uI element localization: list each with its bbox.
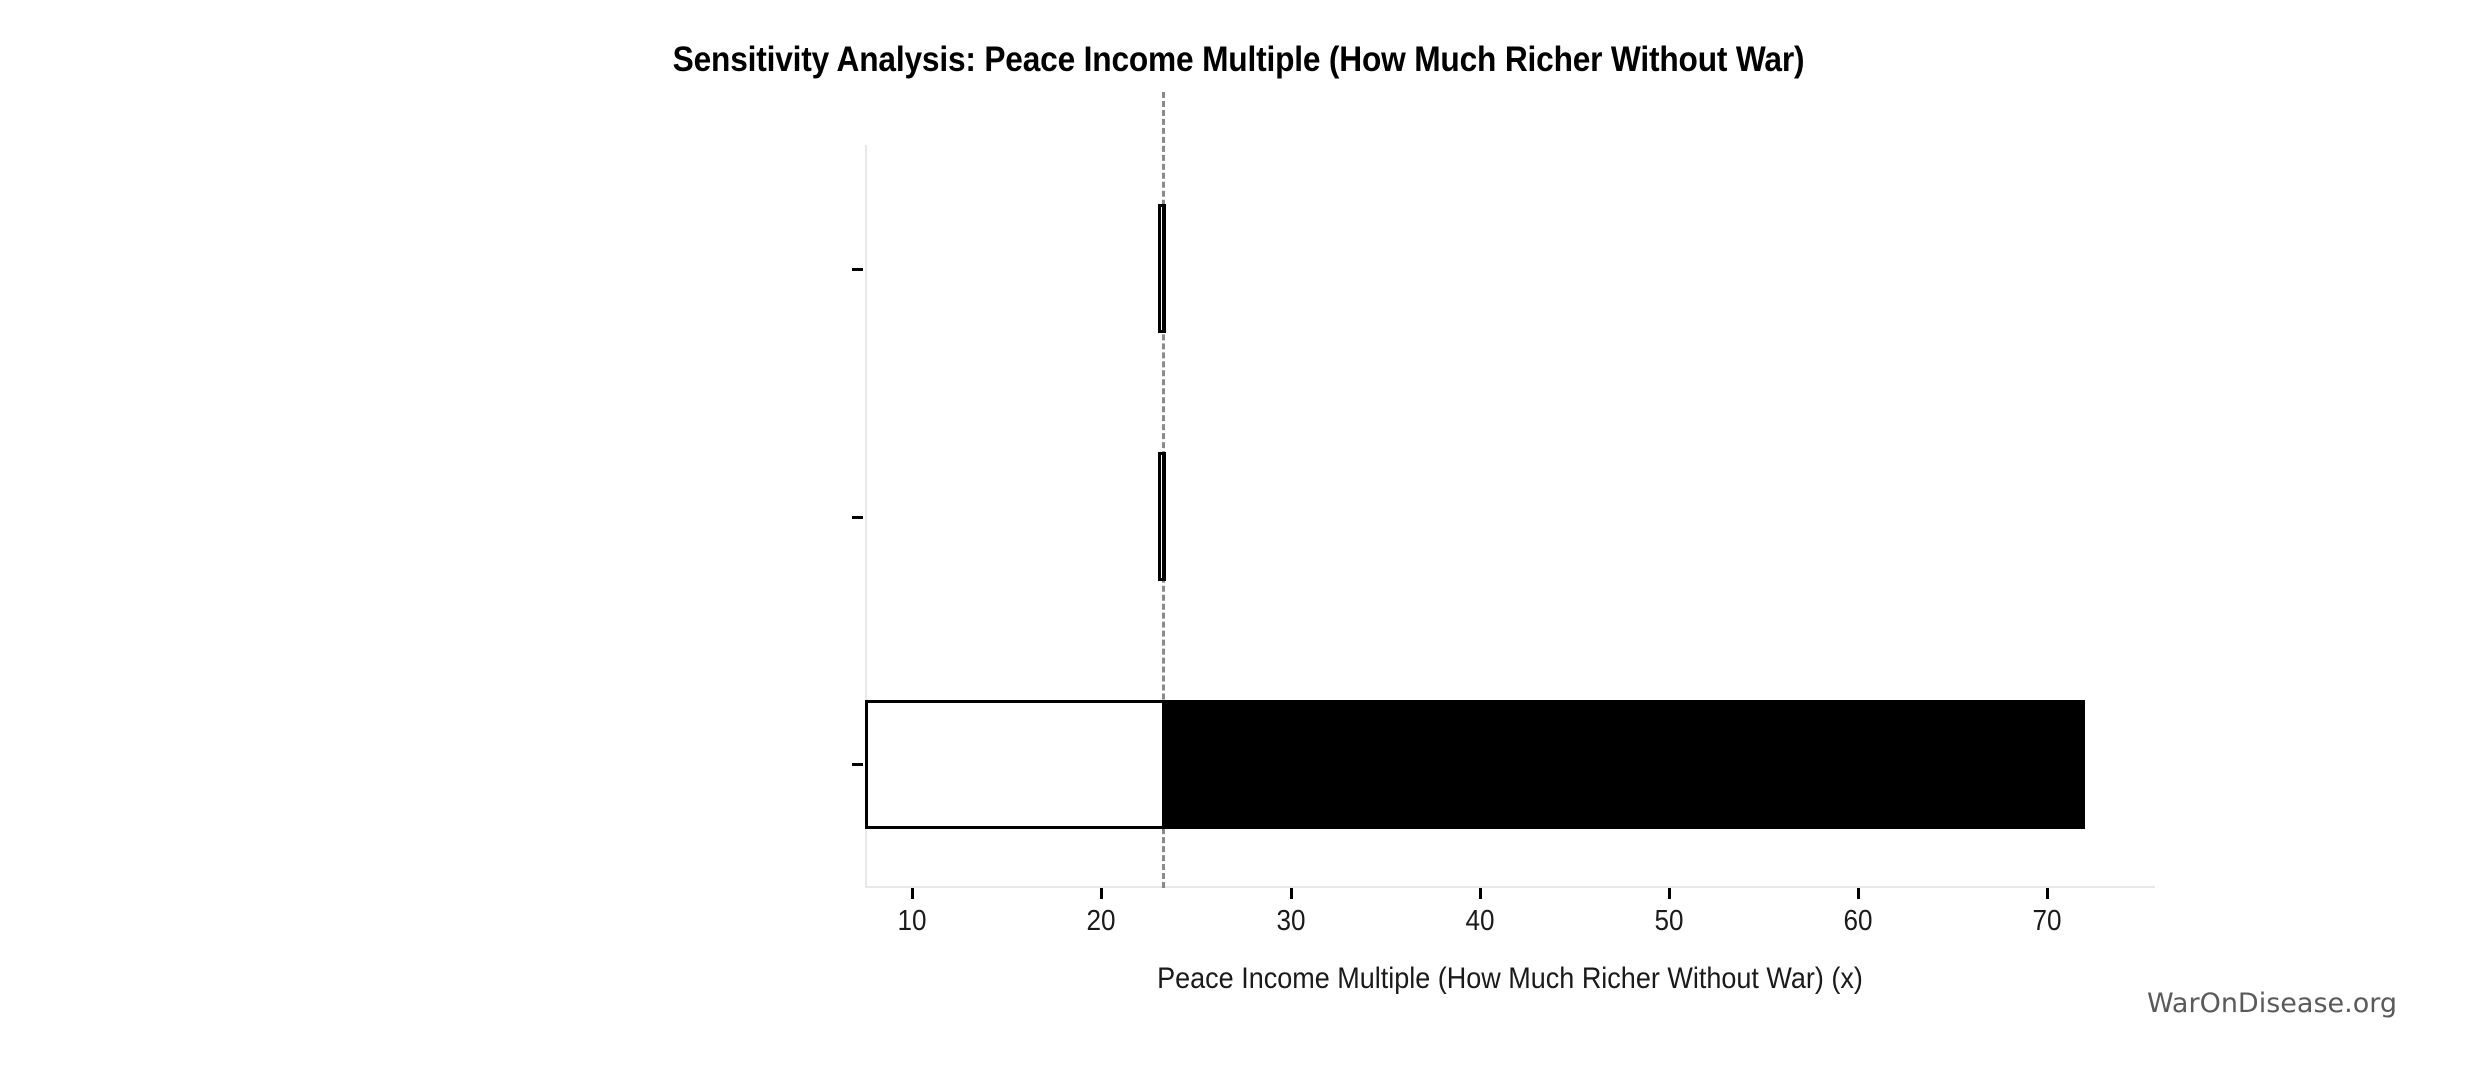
bar-segment-above-baseline — [1162, 703, 2082, 826]
watermark: WarOnDisease.org — [2147, 988, 2397, 1019]
bar-0 — [1158, 204, 1166, 333]
x-tick-mark-3 — [1479, 888, 1482, 899]
x-tick-label-5: 60 — [1844, 905, 1873, 938]
bar-segment-above-baseline — [1162, 455, 1163, 578]
x-tick-mark-4 — [1668, 888, 1671, 899]
x-tick-label-3: 40 — [1465, 905, 1494, 938]
x-tick-label-4: 50 — [1654, 905, 1683, 938]
plot-area: Global Population in 2024Global GDP per … — [865, 145, 2155, 888]
x-tick-mark-5 — [1857, 888, 1860, 899]
page-title: Sensitivity Analysis: Peace Income Multi… — [118, 40, 2360, 80]
bar-2 — [865, 700, 2085, 829]
bar-segment-above-baseline — [1162, 207, 1163, 330]
axis-spine-bottom — [865, 886, 2155, 888]
y-tick-mark-0 — [852, 268, 863, 271]
x-tick-label-0: 10 — [898, 905, 927, 938]
bar-segment-below-baseline — [868, 703, 1162, 826]
x-tick-mark-2 — [1290, 888, 1293, 899]
x-tick-mark-0 — [911, 888, 914, 899]
x-tick-label-1: 20 — [1087, 905, 1116, 938]
y-tick-mark-2 — [852, 763, 863, 766]
sensitivity-analysis-chart: Sensitivity Analysis: Peace Income Multi… — [0, 0, 2477, 1075]
y-tick-mark-1 — [852, 516, 863, 519]
bar-1 — [1158, 452, 1166, 581]
x-tick-label-2: 30 — [1276, 905, 1305, 938]
x-tick-mark-6 — [2046, 888, 2049, 899]
x-tick-label-6: 70 — [2033, 905, 2062, 938]
x-tick-mark-1 — [1100, 888, 1103, 899]
x-axis-label: Peace Income Multiple (How Much Richer W… — [930, 962, 2091, 996]
